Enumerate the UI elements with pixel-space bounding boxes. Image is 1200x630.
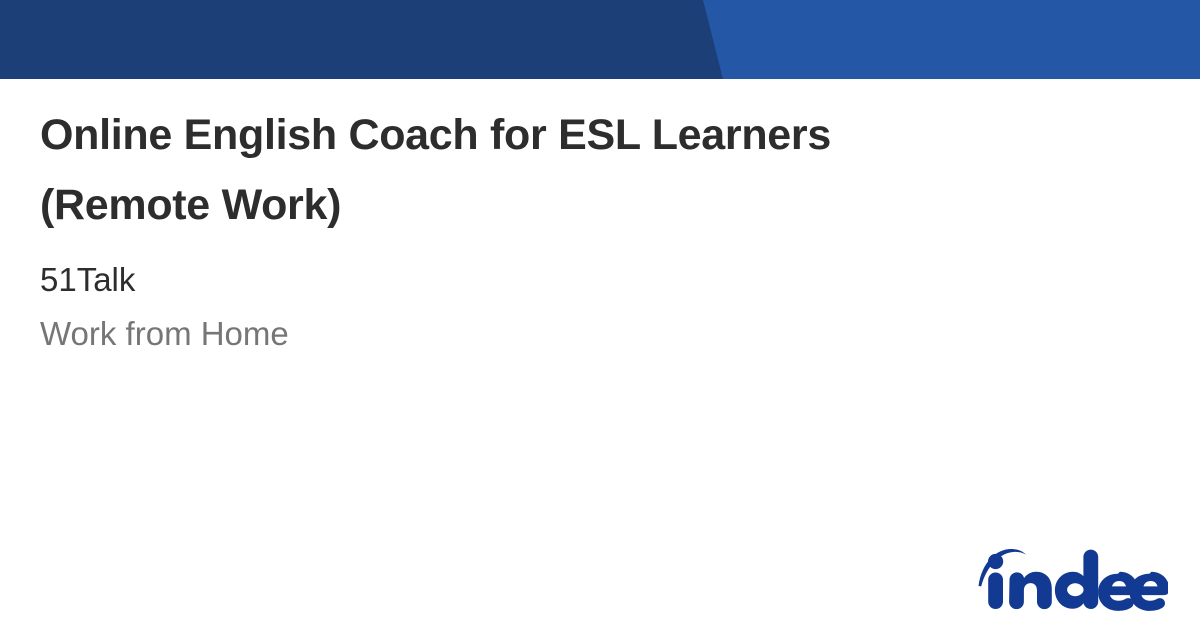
job-share-card: Online English Coach for ESL Learners (R… [0, 0, 1200, 630]
job-title: Online English Coach for ESL Learners (R… [40, 101, 970, 240]
indeed-logo-icon: indeed [968, 540, 1168, 616]
header-banner [0, 0, 1200, 79]
job-location: Work from Home [40, 314, 1160, 354]
logo-i-dot [988, 554, 1003, 569]
company-name: 51Talk [40, 260, 1160, 300]
logo-wordmark-text: indeed [968, 613, 969, 614]
logo-letter-n [1009, 572, 1052, 609]
logo-letter-i [988, 573, 1003, 610]
banner-left-shape [0, 0, 723, 79]
header-banner-graphic [0, 0, 1200, 79]
logo-letter-d1 [1055, 550, 1098, 609]
indeed-logo: indeed [968, 540, 1168, 616]
